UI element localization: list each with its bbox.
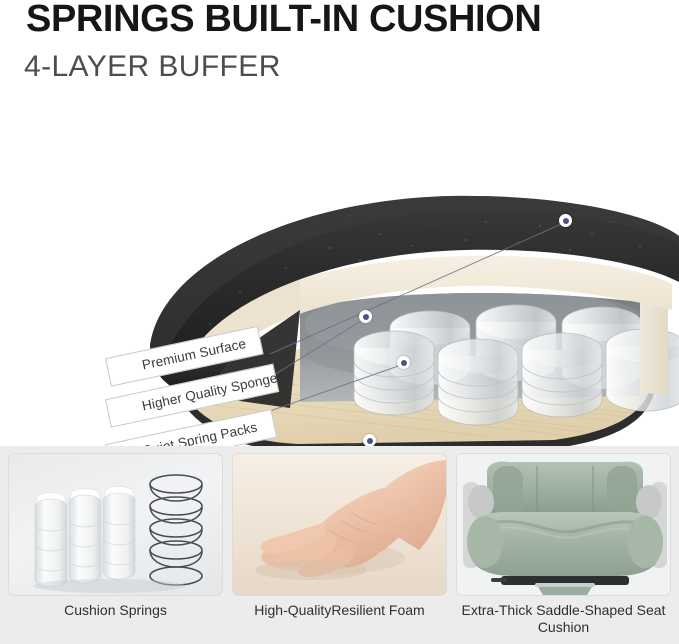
callout-marker-quiet-spring-packs — [397, 356, 410, 369]
caption-saddle-seat: Extra-Thick Saddle-Shaped Seat Cushion — [456, 602, 671, 636]
gallery-card-resilient-foam[interactable] — [232, 453, 447, 596]
page-subtitle: 4-LAYER BUFFER — [24, 50, 281, 84]
green-chair-seat-photo — [457, 454, 671, 596]
cutaway-illustration: Premium Surface Higher Quality Sponge Qu… — [0, 96, 679, 446]
gallery-captions: Cushion Springs High-QualityResilient Fo… — [8, 602, 671, 636]
page-title: SPRINGS BUILT-IN CUSHION — [26, 0, 541, 41]
caption-cushion-springs: Cushion Springs — [8, 602, 223, 636]
callout-marker-premium-surface — [559, 214, 572, 227]
metal-coil — [150, 475, 202, 585]
feature-gallery: Cushion Springs High-QualityResilient Fo… — [0, 446, 679, 644]
gallery-card-cushion-springs[interactable] — [8, 453, 223, 596]
pocket-springs-photo — [9, 454, 223, 596]
caption-resilient-foam: High-QualityResilient Foam — [232, 602, 447, 636]
hand-pressing-foam-photo — [233, 454, 447, 596]
infographic-root: SPRINGS BUILT-IN CUSHION 4-LAYER BUFFER — [0, 0, 679, 644]
cushion-cross-section-graphic — [0, 96, 679, 446]
gallery-cards — [8, 453, 671, 596]
header: SPRINGS BUILT-IN CUSHION 4-LAYER BUFFER — [0, 0, 679, 100]
callout-marker-higher-quality-sponge — [359, 310, 372, 323]
gallery-card-saddle-seat[interactable] — [456, 453, 671, 596]
callout-marker-sturdy-planks — [363, 434, 376, 446]
